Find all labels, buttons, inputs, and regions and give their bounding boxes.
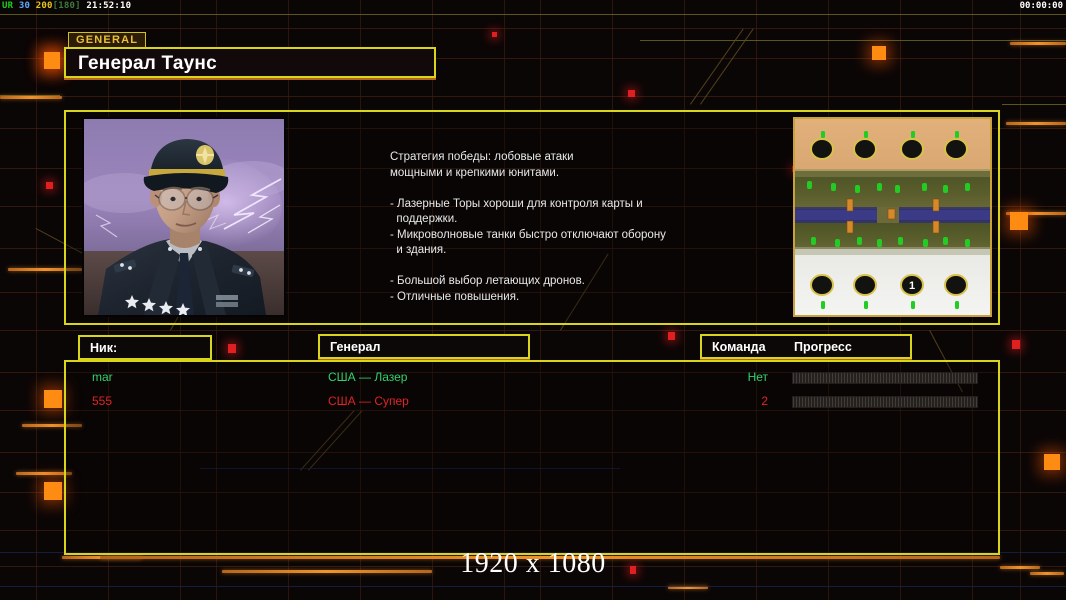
header-general-box: Генерал <box>318 334 530 359</box>
accent-square-red <box>668 332 675 340</box>
status-value-2: 200 <box>36 1 53 11</box>
row-nick: mar <box>92 370 113 384</box>
map-start-position-label: 1 <box>909 280 915 292</box>
accent-square-red <box>492 32 497 37</box>
accent-square <box>1010 212 1028 230</box>
general-info-panel: Стратегия победы: лобовые атаки мощными … <box>64 110 1000 325</box>
resolution-text: 1920 x 1080 <box>460 548 606 579</box>
row-team: Нет <box>712 370 768 384</box>
decorative-line <box>0 96 1066 97</box>
status-value-1: 30 <box>19 1 30 11</box>
title-accent-square <box>44 52 60 69</box>
header-nick-box: Ник: <box>78 335 212 360</box>
decorative-line <box>0 330 1066 331</box>
row-progress-bar <box>792 372 978 384</box>
general-title-box: Генерал Таунс <box>64 47 436 78</box>
row-general: США — Супер <box>328 394 409 408</box>
header-progress-label: Прогресс <box>794 340 852 354</box>
accent-square <box>44 482 62 500</box>
decorative-line <box>0 28 1066 29</box>
accent-square <box>44 390 62 408</box>
status-value-3: [180] <box>53 1 81 11</box>
accent-bar <box>0 96 62 99</box>
row-progress-bar <box>792 396 978 408</box>
status-time: 21:52:10 <box>86 1 131 11</box>
general-description: Стратегия победы: лобовые атаки мощными … <box>390 150 720 305</box>
accent-square-red <box>228 344 236 353</box>
header-nick-label: Ник: <box>90 341 117 355</box>
accent-square-red <box>1012 340 1020 349</box>
rail-line <box>0 14 1066 15</box>
table-row[interactable]: mar США — Лазер Нет <box>66 367 1002 391</box>
accent-square <box>872 46 886 60</box>
faint-line <box>0 586 1066 587</box>
status-ur-label: UR <box>2 1 13 11</box>
top-status-bar: UR 30 200[180] 21:52:10 00:00:00 <box>0 0 1066 13</box>
header-team-label: Команда <box>712 340 766 354</box>
player-list-panel: mar США — Лазер Нет 555 США — Супер 2 <box>64 360 1000 555</box>
header-team-progress-box: Команда Прогресс <box>700 334 912 359</box>
decorative-line <box>1020 0 1021 600</box>
table-row[interactable]: 555 США — Супер 2 <box>66 391 1002 415</box>
map-preview-box[interactable]: 1 <box>793 117 992 317</box>
page-title: Генерал Таунс <box>78 53 217 75</box>
general-portrait <box>82 117 286 317</box>
map-preview-image: 1 <box>795 119 990 315</box>
row-team: 2 <box>712 394 768 408</box>
resolution-caption: 1920 x 1080 <box>0 548 1066 580</box>
accent-square-red <box>46 182 53 189</box>
rail-line <box>1002 104 1066 105</box>
row-nick: 555 <box>92 394 112 408</box>
rail-line <box>640 40 1066 41</box>
network-status-text: UR 30 200[180] 21:52:10 <box>2 0 131 13</box>
header-general-label: Генерал <box>330 340 380 354</box>
accent-bar <box>1006 122 1066 125</box>
row-general: США — Лазер <box>328 370 407 384</box>
decorative-line <box>36 0 37 600</box>
accent-square-red <box>628 90 635 97</box>
portrait-artwork <box>84 119 284 315</box>
accent-square <box>1044 454 1060 470</box>
session-clock: 00:00:00 <box>1020 0 1063 13</box>
accent-bar <box>1010 42 1066 45</box>
